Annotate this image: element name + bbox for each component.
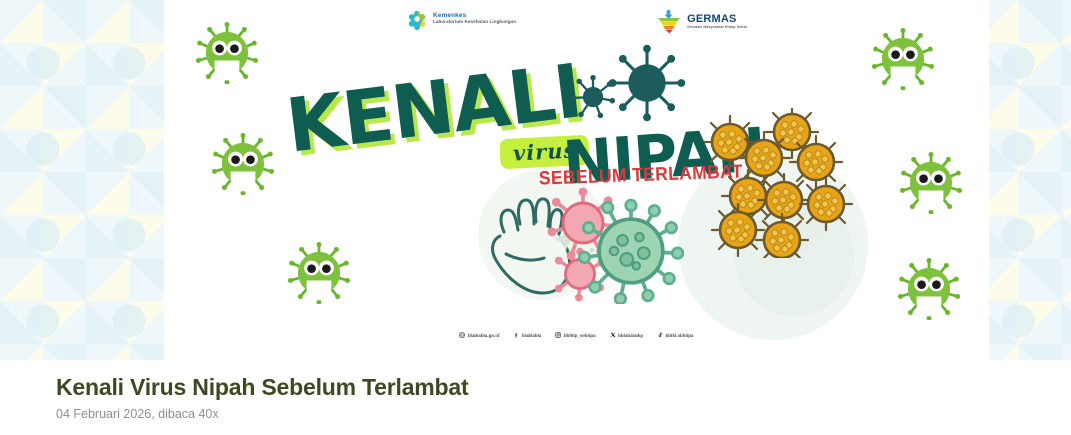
social-handle-website: blablabla.go.id xyxy=(468,333,500,338)
germas-logo-text: GERMAS Gerakan Masyarakat Hidup Sehat xyxy=(687,13,747,29)
social-item-facebook: blablabla xyxy=(513,332,541,338)
social-handle-facebook: blablabla xyxy=(522,333,541,338)
orange-virus-cluster-illustration xyxy=(704,108,860,258)
germ-mid-right xyxy=(900,152,962,214)
instagram-icon xyxy=(555,332,561,338)
background-seam-right xyxy=(975,0,989,360)
green-virus-illustration xyxy=(578,198,684,304)
kemenkes-logo-line2: Laboratorium Kesehatan Lingkungan xyxy=(433,20,516,25)
kemenkes-logo-icon xyxy=(406,8,428,30)
dark-teal-virus-illustration xyxy=(608,44,686,122)
social-item-tiktok: bbtkl.sbhitpa xyxy=(657,332,693,338)
germas-logo-icon xyxy=(656,8,682,34)
kemenkes-logo-text: Kemenkes Laboratorium Kesehatan Lingkung… xyxy=(433,13,516,25)
article-meta: 04 Februari 2026, dibaca 40x xyxy=(56,407,1071,421)
germ-bottom-left xyxy=(288,242,350,304)
social-item-website: blablabla.go.id xyxy=(459,332,499,338)
dark-teal-virus-small-illustration xyxy=(570,74,616,120)
social-item-x-twitter: bblabalatkp xyxy=(610,332,643,338)
social-item-instagram: bbtklp_sebitpa xyxy=(555,332,595,338)
background-crosses-right xyxy=(975,0,1071,360)
article-banner-page: Kemenkes Laboratorium Kesehatan Lingkung… xyxy=(0,0,1071,435)
germas-logo: GERMAS Gerakan Masyarakat Hidup Sehat xyxy=(656,8,747,34)
globe-icon xyxy=(459,332,465,338)
page-title: Kenali Virus Nipah Sebelum Terlambat xyxy=(56,374,1071,400)
article-caption: Kenali Virus Nipah Sebelum Terlambat 04 … xyxy=(0,360,1071,435)
kemenkes-logo: Kemenkes Laboratorium Kesehatan Lingkung… xyxy=(406,8,516,30)
germ-bottom-right xyxy=(898,258,960,320)
poster-logo-row: Kemenkes Laboratorium Kesehatan Lingkung… xyxy=(178,8,975,34)
social-handle-x-twitter: bblabalatkp xyxy=(618,333,643,338)
germas-logo-line1: GERMAS xyxy=(687,13,747,25)
social-handle-instagram: bbtklp_sebitpa xyxy=(564,333,596,338)
germ-top-left xyxy=(196,22,258,84)
poster-social-row: blablabla.go.id blablabla bbtklp_sebitpa xyxy=(178,332,975,338)
germ-mid-left xyxy=(212,133,274,195)
facebook-icon xyxy=(513,332,519,338)
germas-logo-line2: Gerakan Masyarakat Hidup Sehat xyxy=(687,25,747,29)
germ-top-right xyxy=(872,28,934,90)
background-crosses-left xyxy=(0,0,178,360)
tiktok-icon xyxy=(657,332,663,338)
background-seam-left xyxy=(164,0,178,360)
x-twitter-icon xyxy=(610,332,616,338)
social-handle-tiktok: bbtkl.sbhitpa xyxy=(666,333,694,338)
